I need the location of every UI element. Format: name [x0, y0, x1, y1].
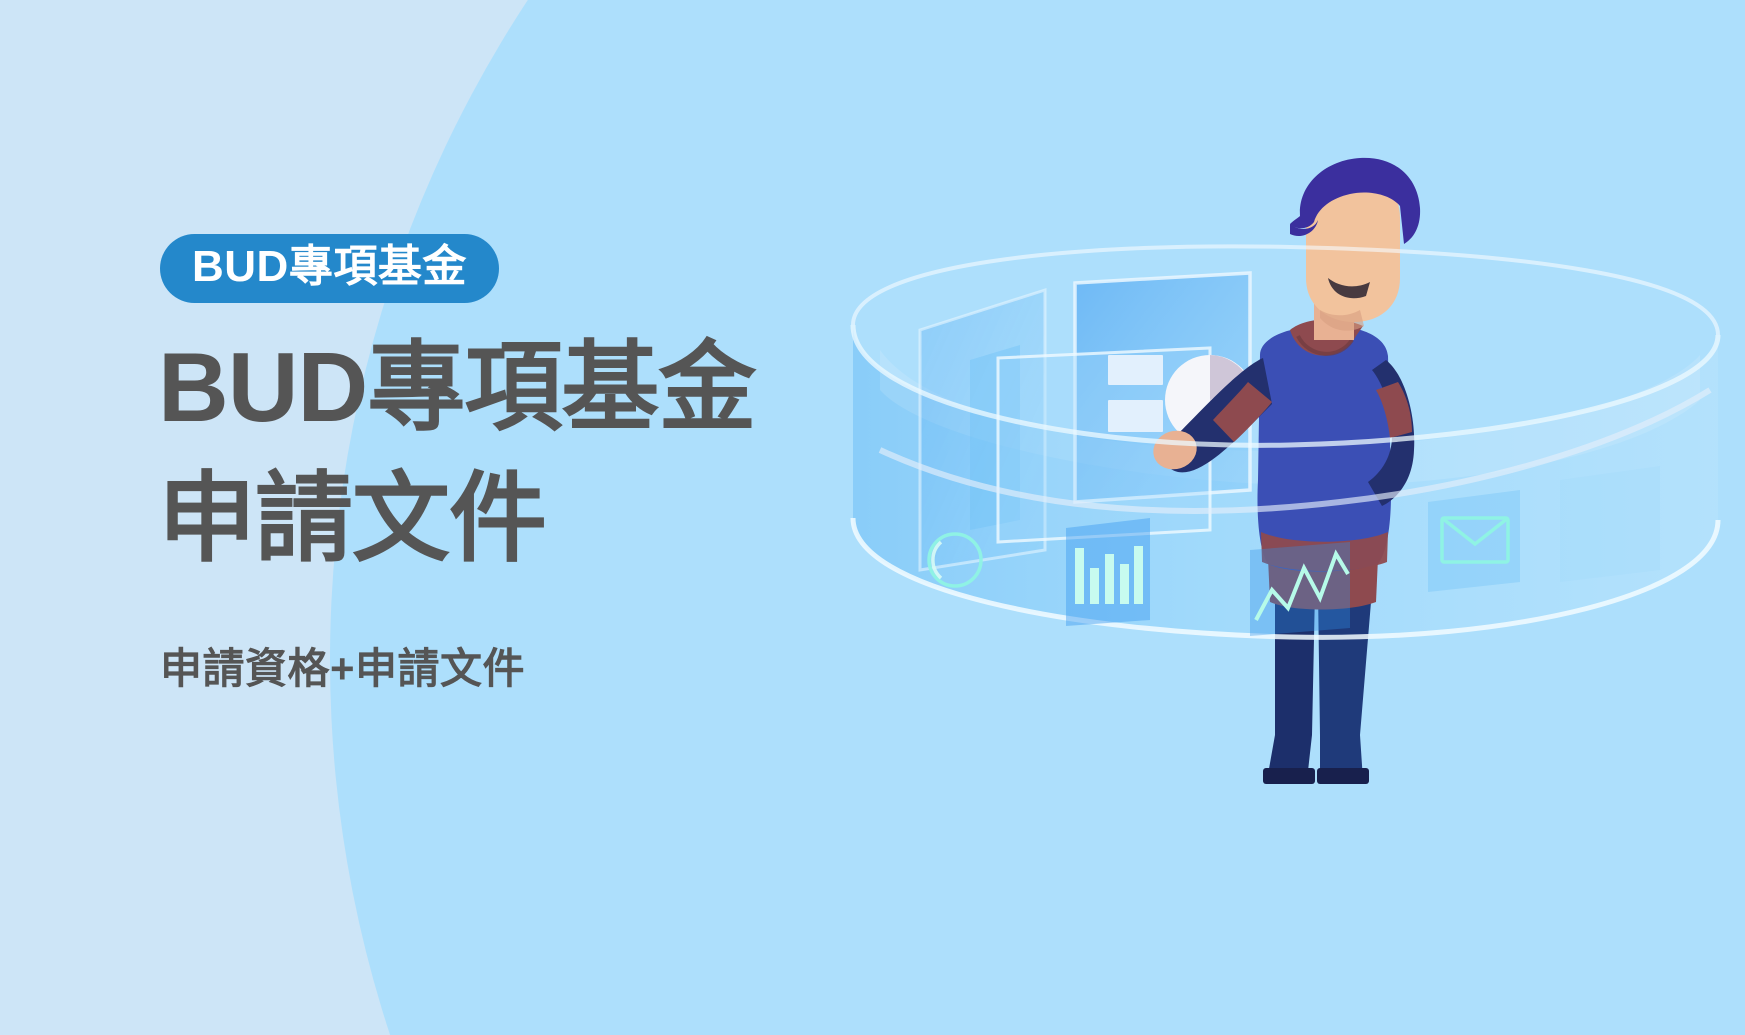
hero-illustration: [820, 150, 1745, 790]
page-title: BUD專項基金 申請文件: [158, 322, 755, 585]
line-chart-panel: [1250, 542, 1350, 636]
text-content: BUD專項基金 BUD專項基金 申請文件 申請資格+申請文件: [0, 0, 900, 1035]
bar-chart-panel: [1066, 518, 1150, 626]
category-badge: BUD專項基金: [160, 234, 499, 303]
back-shoe: [1263, 768, 1315, 784]
sweater: [1257, 326, 1391, 572]
page-title-line-2: 申請文件: [158, 453, 755, 584]
page-title-line-1: BUD專項基金: [158, 322, 755, 453]
front-shoe: [1317, 768, 1369, 784]
mail-panel: [1428, 490, 1520, 592]
bud-fund-banner: BUD專項基金 BUD專項基金 申請文件 申請資格+申請文件: [0, 0, 1745, 1035]
page-subtitle: 申請資格+申請文件: [160, 635, 525, 696]
